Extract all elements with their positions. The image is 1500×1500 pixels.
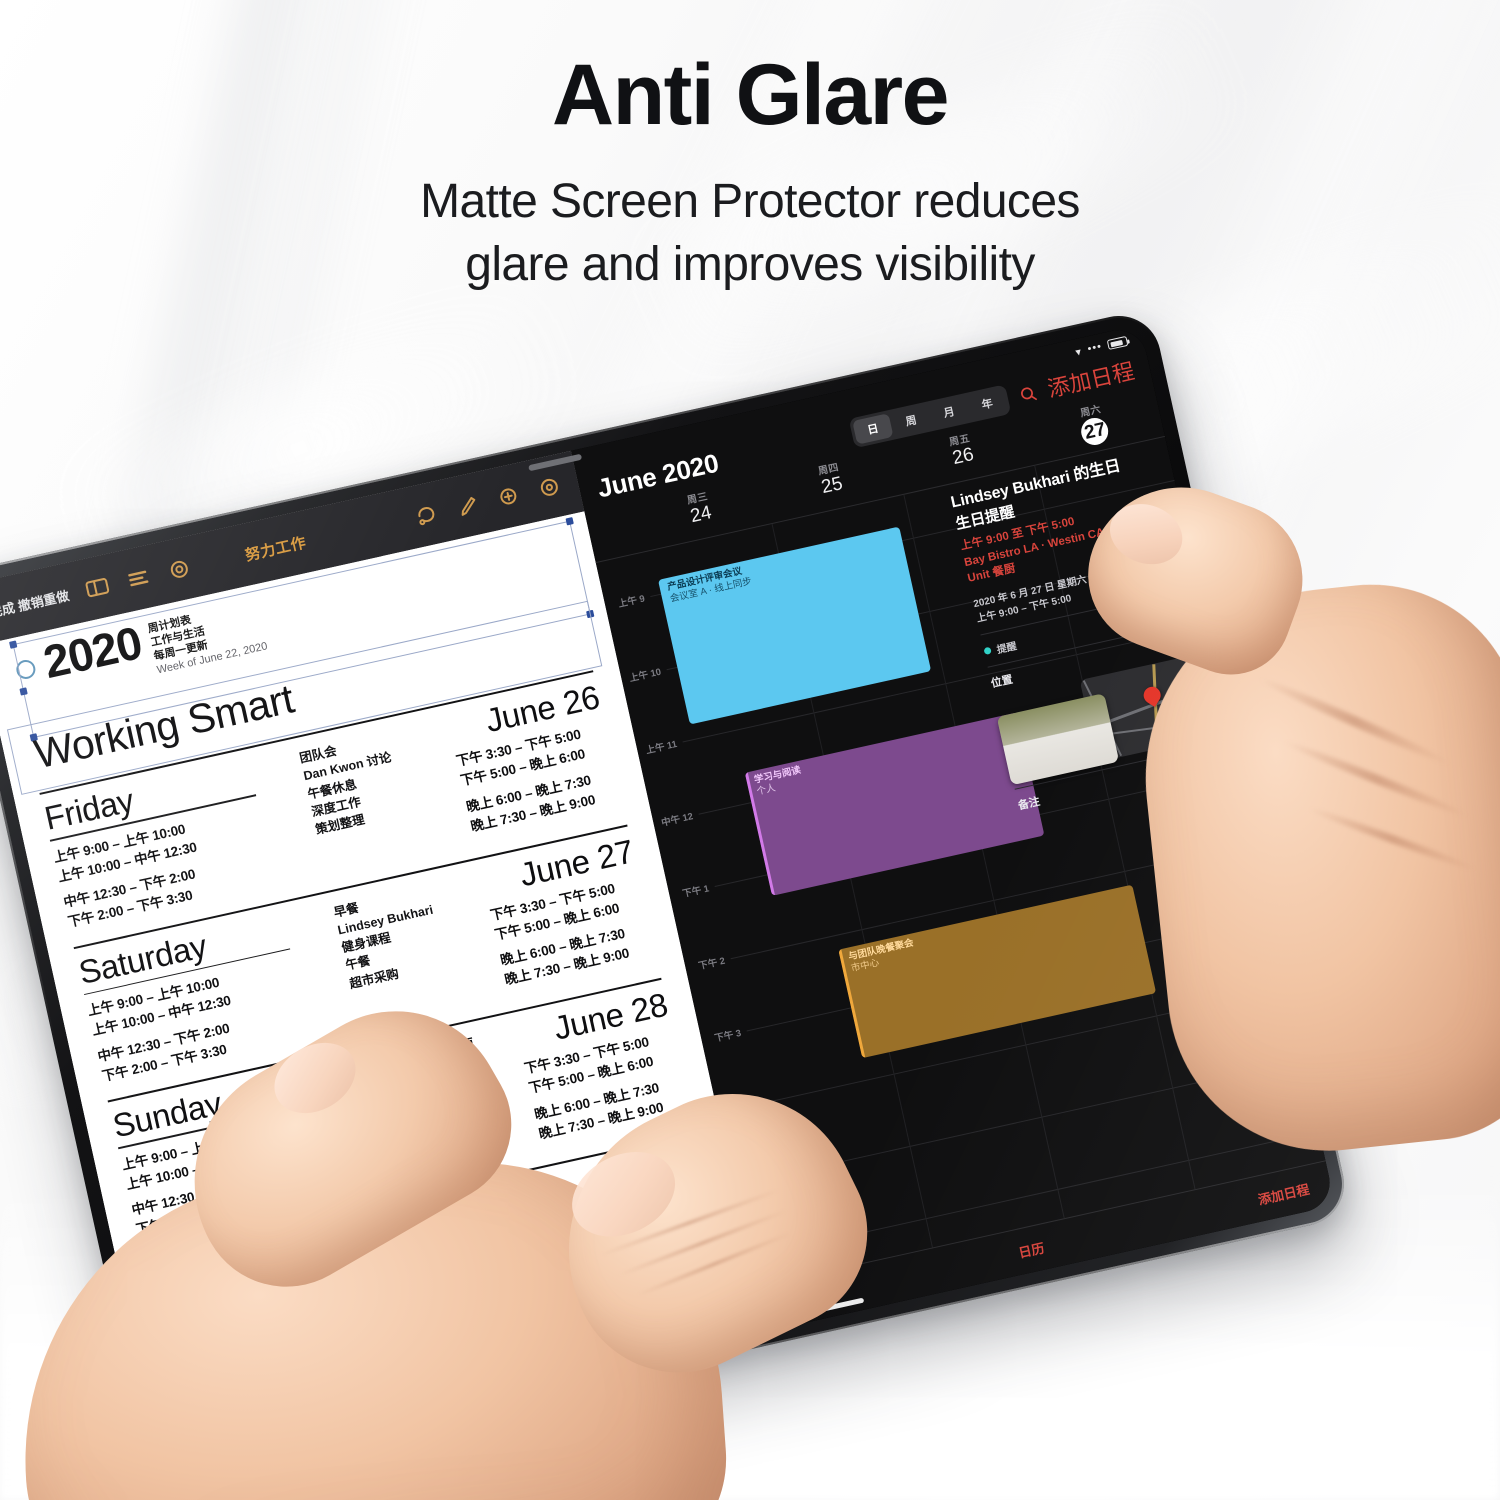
headline: Anti Glare xyxy=(0,52,1500,140)
wifi-icon: ▾ xyxy=(1074,344,1083,358)
list-icon[interactable] xyxy=(123,565,153,592)
subheadline: Matte Screen Protector reduces glare and… xyxy=(0,170,1500,297)
notes-year: 2020 xyxy=(40,621,145,684)
note-list: 早餐 Lindsey Bukhari 健身课程 午餐 超市采购 xyxy=(332,873,491,993)
battery-icon xyxy=(1107,336,1129,350)
add-event-label[interactable]: 添加日程 xyxy=(1256,1179,1311,1209)
layout-icon[interactable] xyxy=(82,574,112,601)
calendar-event[interactable]: 与团队晚餐聚会 市中心 xyxy=(839,884,1157,1058)
segment-day[interactable]: 日 xyxy=(852,413,893,444)
pen-icon[interactable] xyxy=(452,492,482,519)
segment-month[interactable]: 月 xyxy=(928,396,969,427)
signal-icon: ••• xyxy=(1086,341,1103,356)
notes-document-title: 努力工作 xyxy=(243,531,308,565)
note-list: 与 Dana Yuen 见面 喻啡 阅读 午餐 复盘 准备下周 xyxy=(366,1027,529,1165)
marketing-copy: Anti Glare Matte Screen Protector reduce… xyxy=(0,52,1500,296)
notes-year-caption: 周计划表 工作与生活 每周一更新 Week of June 22, 2020 xyxy=(146,598,268,677)
camera-icon[interactable] xyxy=(164,556,194,583)
subheadline-line-1: Matte Screen Protector reduces xyxy=(0,170,1500,233)
share-icon[interactable] xyxy=(493,483,523,510)
notes-toolbar-left-labels[interactable]: 完成 撤销重做 xyxy=(0,585,71,621)
calendars-button[interactable]: 日历 xyxy=(1017,1238,1047,1262)
calendar-event[interactable]: 学习与阅读 个人 xyxy=(745,713,1045,896)
segment-year[interactable]: 年 xyxy=(966,387,1007,418)
product-marketing-image: Anti Glare Matte Screen Protector reduce… xyxy=(0,0,1500,1500)
subheadline-line-2: glare and improves visibility xyxy=(0,233,1500,296)
search-icon[interactable] xyxy=(1018,384,1038,404)
note-list: 团队会 Dan Kwon 讨论 午餐休息 深度工作 策划整理 xyxy=(298,719,457,839)
more-icon[interactable] xyxy=(534,474,564,501)
bullet-ring-icon[interactable] xyxy=(15,658,38,681)
lasso-icon[interactable] xyxy=(411,501,441,528)
segment-week[interactable]: 周 xyxy=(890,404,931,435)
